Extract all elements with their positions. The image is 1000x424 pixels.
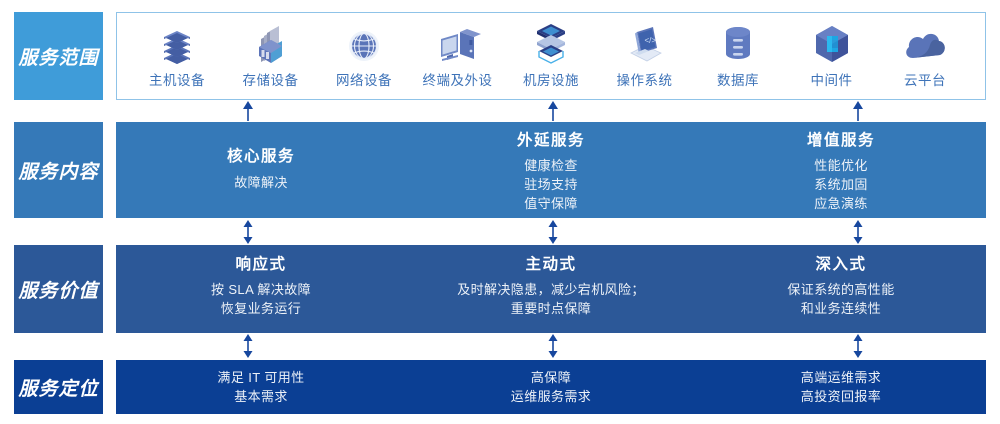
scope-item-os[interactable]: </> 操作系统 — [599, 23, 691, 89]
scope-items-container: 主机设备 存储设备 — [116, 12, 986, 100]
scope-item-label: 网络设备 — [336, 69, 392, 89]
content-cell-core: 核心服务 故障解决 — [116, 122, 406, 218]
cell-line: 按 SLA 解决故障 — [211, 280, 311, 299]
scope-item-label: 机房设施 — [523, 69, 579, 89]
arrow-up-col2-g1 — [546, 101, 560, 121]
cell-title: 深入式 — [815, 256, 866, 273]
row-label-positioning: 服务定位 — [14, 360, 103, 414]
cell-line: 基本需求 — [234, 387, 288, 406]
cloud-platform-icon — [902, 23, 948, 65]
positioning-cell-premium: 高端运维需求 高投资回报率 — [696, 360, 986, 414]
server-stack-icon — [157, 23, 197, 65]
cell-line: 运维服务需求 — [511, 387, 591, 406]
arrow-updown-col3-g2 — [851, 220, 865, 244]
cell-line: 和业务连续性 — [801, 299, 881, 318]
scope-item-middleware[interactable]: 中间件 — [786, 23, 878, 89]
cell-line: 满足 IT 可用性 — [217, 368, 304, 387]
datacenter-facility-icon — [529, 23, 573, 65]
row-label-value: 服务价值 — [14, 245, 103, 333]
middleware-cube-icon — [811, 23, 853, 65]
content-cell-valueadd: 增值服务 性能优化 系统加固 应急演练 — [696, 122, 986, 218]
cell-line: 重要时点保障 — [511, 299, 591, 318]
svg-text:</>: </> — [644, 36, 656, 45]
scope-item-label: 云平台 — [904, 69, 946, 89]
scope-item-database[interactable]: 数据库 — [692, 23, 784, 89]
arrow-up-col3-g1 — [851, 101, 865, 121]
cell-line: 高保障 — [531, 368, 571, 387]
cell-line: 健康检查 — [524, 156, 578, 175]
scope-item-label: 终端及外设 — [423, 69, 493, 89]
cell-line: 高端运维需求 — [801, 368, 881, 387]
value-band: 响应式 按 SLA 解决故障 恢复业务运行 主动式 及时解决隐患，减少宕机风险；… — [116, 245, 986, 333]
row-label-value-text: 服务价值 — [18, 276, 98, 303]
scope-item-storage[interactable]: 存储设备 — [225, 23, 317, 89]
value-cell-proactive: 主动式 及时解决隐患，减少宕机风险； 重要时点保障 — [406, 245, 696, 333]
globe-network-icon — [344, 23, 384, 65]
content-cell-extended: 外延服务 健康检查 驻场支持 值守保障 — [406, 122, 696, 218]
cell-line: 保证系统的高性能 — [787, 280, 894, 299]
scope-item-network[interactable]: 网络设备 — [318, 23, 410, 89]
desktop-peripheral-icon — [436, 23, 480, 65]
positioning-cell-assured: 高保障 运维服务需求 — [406, 360, 696, 414]
cell-title: 增值服务 — [807, 132, 875, 149]
arrow-updown-col2-g3 — [546, 334, 560, 358]
cell-line: 系统加固 — [814, 175, 868, 194]
arrow-updown-col3-g3 — [851, 334, 865, 358]
cell-line: 性能优化 — [814, 156, 868, 175]
value-cell-deep: 深入式 保证系统的高性能 和业务连续性 — [696, 245, 986, 333]
service-framework-diagram: 服务范围 主机设备 — [0, 0, 1000, 424]
database-icon — [718, 23, 758, 65]
cell-line: 驻场支持 — [524, 175, 578, 194]
positioning-band: 满足 IT 可用性 基本需求 高保障 运维服务需求 高端运维需求 高投资回报率 — [116, 360, 986, 414]
storage-array-icon — [251, 23, 291, 65]
scope-item-label: 操作系统 — [617, 69, 673, 89]
content-band: 核心服务 故障解决 外延服务 健康检查 驻场支持 值守保障 增值服务 性能优化 … — [116, 122, 986, 218]
row-label-content: 服务内容 — [14, 122, 103, 218]
cell-title: 响应式 — [235, 256, 286, 273]
cell-title: 核心服务 — [227, 148, 295, 165]
cell-line: 恢复业务运行 — [221, 299, 301, 318]
cell-title: 主动式 — [525, 256, 576, 273]
row-label-content-text: 服务内容 — [18, 157, 98, 184]
cell-line: 及时解决隐患，减少宕机风险； — [457, 280, 645, 299]
operating-system-icon: </> — [623, 23, 667, 65]
scope-item-host[interactable]: 主机设备 — [131, 23, 223, 89]
arrow-updown-col1-g3 — [241, 334, 255, 358]
cell-line: 值守保障 — [524, 194, 578, 213]
scope-item-cloud[interactable]: 云平台 — [879, 23, 971, 89]
cell-title: 外延服务 — [517, 132, 585, 149]
scope-item-label: 数据库 — [717, 69, 759, 89]
row-label-scope-text: 服务范围 — [18, 43, 98, 70]
arrow-updown-col1-g2 — [241, 220, 255, 244]
scope-item-label: 存储设备 — [243, 69, 299, 89]
cell-line: 故障解决 — [234, 173, 288, 192]
cell-line: 高投资回报率 — [801, 387, 881, 406]
scope-item-terminal[interactable]: 终端及外设 — [412, 23, 504, 89]
value-cell-reactive: 响应式 按 SLA 解决故障 恢复业务运行 — [116, 245, 406, 333]
row-label-positioning-text: 服务定位 — [18, 374, 98, 401]
positioning-cell-basic: 满足 IT 可用性 基本需求 — [116, 360, 406, 414]
scope-item-datacenter[interactable]: 机房设施 — [505, 23, 597, 89]
arrow-updown-col2-g2 — [546, 220, 560, 244]
arrow-up-col1-g1 — [241, 101, 255, 121]
scope-item-label: 中间件 — [811, 69, 853, 89]
cell-line: 应急演练 — [814, 194, 868, 213]
row-label-scope: 服务范围 — [14, 12, 103, 100]
scope-item-label: 主机设备 — [149, 69, 205, 89]
